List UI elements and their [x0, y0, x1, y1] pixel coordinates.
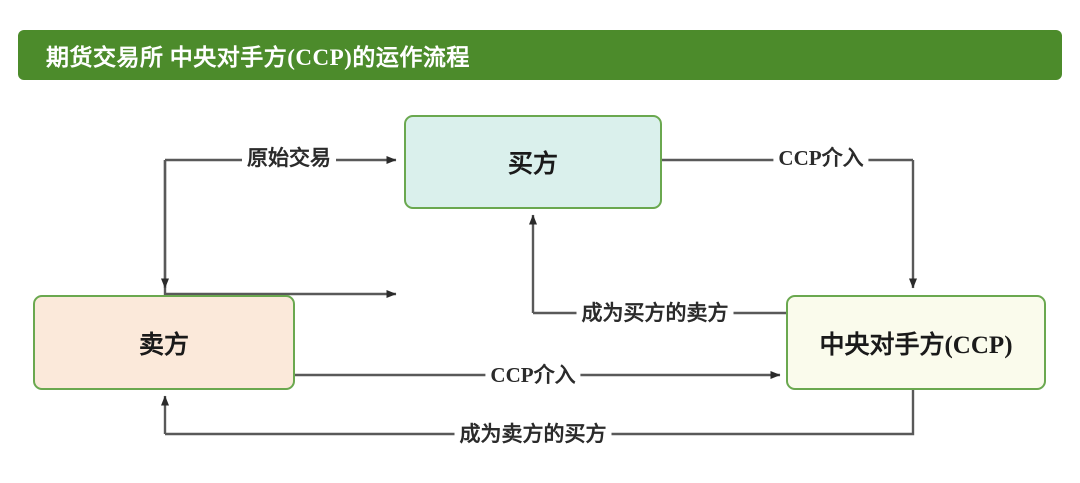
node-seller[interactable]: 卖方 — [33, 295, 295, 390]
edge-label-original-trade: 原始交易 — [242, 146, 336, 170]
flowchart-diagram: 期货交易所 中央对手方(CCP)的运作流程 — [0, 0, 1080, 483]
edge-label-ccp-step-top: CCP介入 — [773, 146, 868, 170]
node-buyer-label: 买方 — [508, 144, 558, 180]
edge-ccp-step-top — [662, 160, 913, 288]
edge-seller-to-buyer — [533, 215, 786, 313]
node-buyer[interactable]: 买方 — [404, 115, 662, 209]
edge-label-seller-to-buyer: 成为买方的卖方 — [577, 301, 734, 325]
edge-original-trade — [165, 160, 396, 294]
edge-label-buyer-to-seller: 成为卖方的买方 — [455, 422, 612, 446]
node-seller-label: 卖方 — [139, 325, 189, 361]
node-ccp-label: 中央对手方(CCP) — [819, 325, 1012, 361]
node-ccp[interactable]: 中央对手方(CCP) — [786, 295, 1046, 390]
edge-connector-layer — [0, 0, 1080, 483]
edge-label-ccp-step-bottom: CCP介入 — [485, 363, 580, 387]
